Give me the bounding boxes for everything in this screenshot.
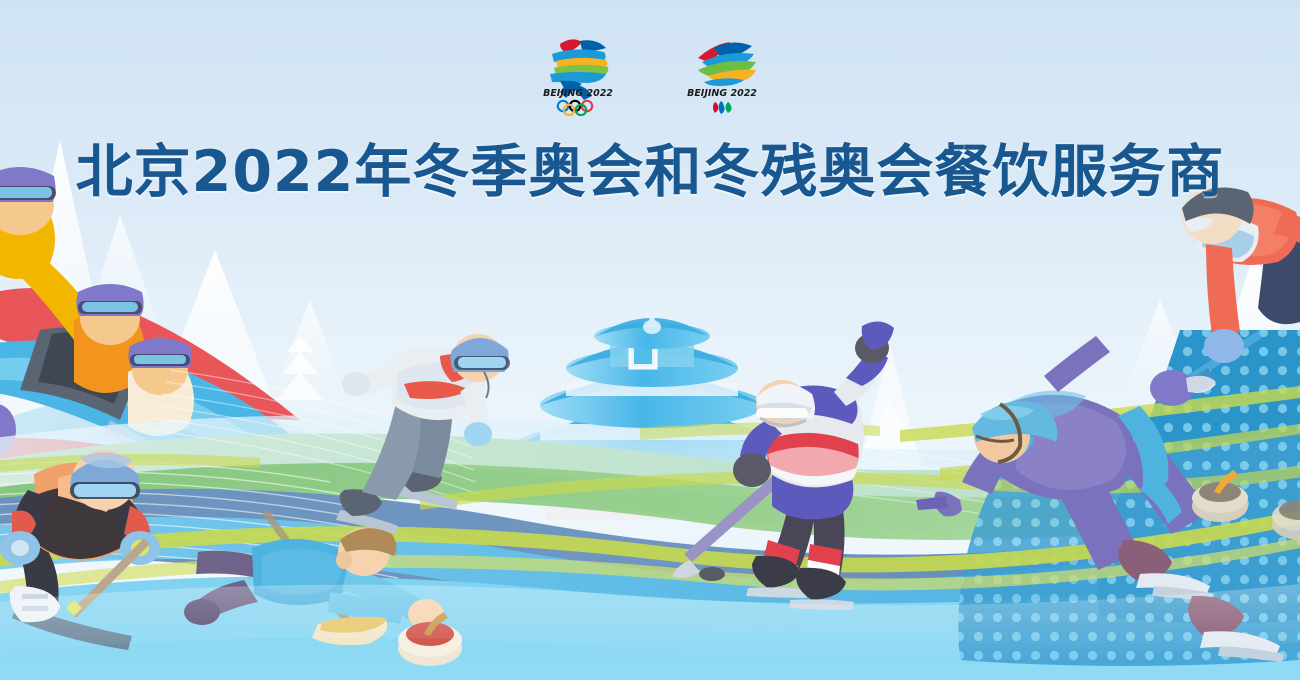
olympic-wordmark: BEIJING 2022 xyxy=(543,88,613,99)
olympic-emblem: BEIJING 2022 xyxy=(530,28,626,116)
emblem-row: BEIJING 2022 BEIJ xyxy=(0,28,1300,118)
beijing-2022-banner: BEIJING 2022 BEIJ xyxy=(0,0,1300,680)
page-title: 北京2022年冬季奥会和冬残奥会餐饮服务商 xyxy=(0,143,1300,203)
paralympic-wordmark: BEIJING 2022 xyxy=(687,88,757,99)
paralympic-emblem: BEIJING 2022 xyxy=(674,28,770,116)
